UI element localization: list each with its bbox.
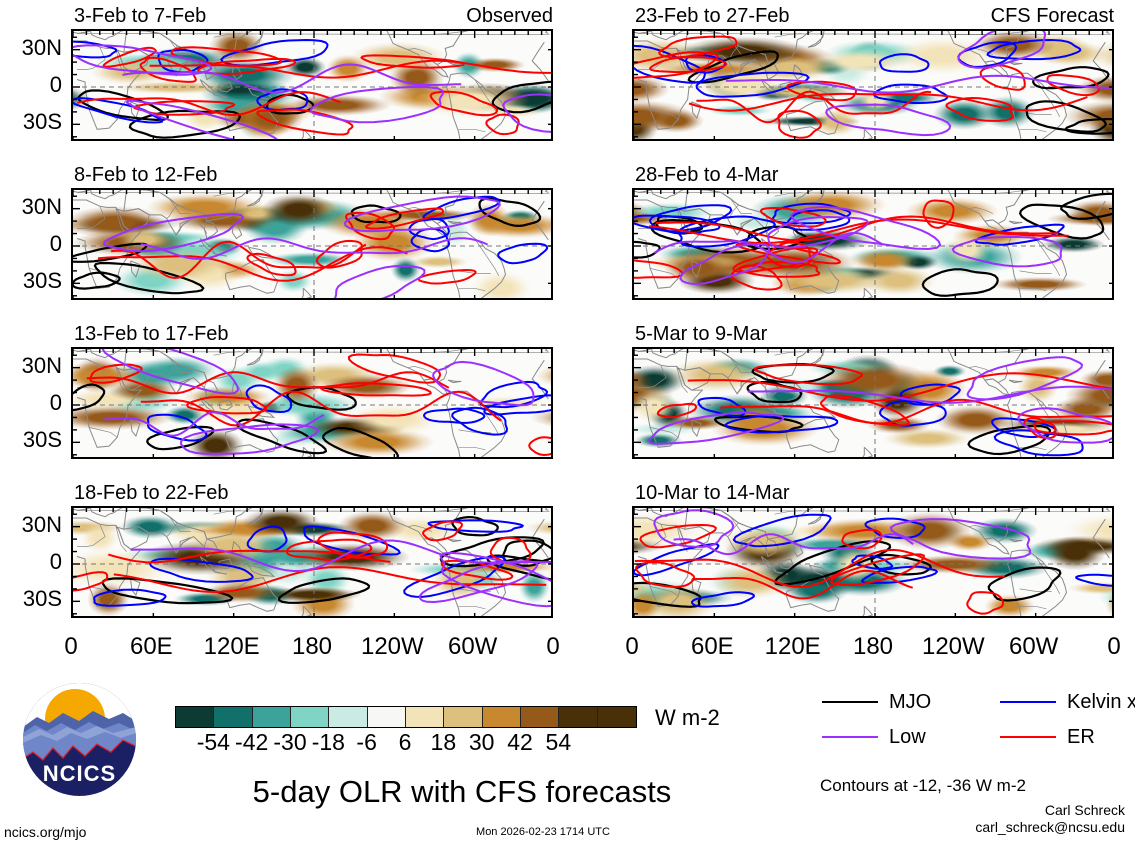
y-axis-label: 0 (0, 233, 62, 255)
y-axis-label: 0 (0, 74, 62, 96)
y-axis-label: 30S (0, 429, 62, 451)
colorbar-cell (444, 707, 482, 727)
x-axis-label: 120W (913, 635, 993, 659)
map-plot-area (71, 347, 553, 459)
contour-er (635, 525, 1005, 614)
x-axis-label: 0 (592, 635, 672, 659)
author-name: Carl Schreck (900, 802, 1125, 819)
site-url[interactable]: ncics.org/mjo (4, 825, 86, 839)
panel-title: 3-Feb to 7-Feb (74, 6, 206, 26)
y-axis-label: 30S (0, 588, 62, 610)
colorbar-cell (176, 707, 214, 727)
map-plot-area (71, 506, 553, 618)
legend-entry-low: Low (822, 727, 926, 747)
legend-line-swatch (1000, 701, 1056, 703)
legend-line-swatch (822, 701, 878, 703)
author-credit: Carl Schreckcarl_schreck@ncsu.edu (900, 802, 1125, 836)
panel-title: 13-Feb to 17-Feb (74, 324, 229, 344)
y-axis-label: 30S (0, 270, 62, 292)
colorbar-cell (521, 707, 559, 727)
panel-title: 10-Mar to 14-Mar (635, 483, 790, 503)
colorbar-cell (329, 707, 367, 727)
colorbar-cell (253, 707, 291, 727)
legend-line-swatch (1000, 736, 1056, 738)
contour-mjo (634, 541, 1060, 607)
y-axis-label: 0 (0, 392, 62, 414)
contour-low (654, 510, 1030, 558)
x-axis-label: 120E (753, 635, 833, 659)
x-axis-label: 120W (352, 635, 432, 659)
legend-label: ER (1067, 727, 1095, 747)
y-axis-label: 30N (0, 196, 62, 218)
map-plot-area (632, 506, 1114, 618)
x-axis-label: 60E (111, 635, 191, 659)
panel-title: 8-Feb to 12-Feb (74, 165, 217, 185)
panel-title: 5-Mar to 9-Mar (635, 324, 767, 344)
y-axis-label: 30N (0, 514, 62, 536)
y-axis-label: 0 (0, 551, 62, 573)
map-plot-area (632, 347, 1114, 459)
contour-note: Contours at -12, -36 W m-2 (820, 777, 1026, 794)
ncics-logo-text: NCICS (23, 761, 136, 787)
legend-entry-mjo: MJO (822, 692, 931, 712)
legend-line-swatch (822, 736, 878, 738)
colorbar-unit-label: W m-2 (655, 707, 720, 729)
x-axis-label: 0 (31, 635, 111, 659)
column-tag: Observed (403, 6, 553, 26)
ncics-logo[interactable]: NCICS (23, 683, 136, 796)
panel-title: 28-Feb to 4-Mar (635, 165, 778, 185)
x-axis-label: 60E (672, 635, 752, 659)
colorbar-tick-label: 54 (530, 731, 586, 754)
colorbar-cell (598, 707, 636, 727)
x-axis-label: 60W (994, 635, 1074, 659)
contour-mjo (634, 194, 1114, 296)
colorbar-cell (368, 707, 406, 727)
x-axis-label: 0 (513, 635, 593, 659)
figure-main-title: 5-day OLR with CFS forecasts (192, 776, 732, 807)
contour-low (104, 197, 500, 301)
colorbar-cell (483, 707, 521, 727)
y-axis-label: 30N (0, 37, 62, 59)
colorbar-cell (291, 707, 329, 727)
map-plot-area (71, 188, 553, 300)
timestamp: Mon 2026-02-23 1714 UTC (443, 827, 643, 838)
x-axis-label: 0 (1074, 635, 1135, 659)
y-axis-label: 30N (0, 355, 62, 377)
map-plot-area (632, 29, 1114, 141)
legend-label: Low (889, 727, 926, 747)
map-plot-area (632, 188, 1114, 300)
y-axis-label: 30S (0, 111, 62, 133)
column-tag: CFS Forecast (964, 6, 1114, 26)
x-axis-label: 60W (433, 635, 513, 659)
panel-title: 23-Feb to 27-Feb (635, 6, 790, 26)
author-email[interactable]: carl_schreck@ncsu.edu (900, 819, 1125, 836)
legend-entry-kelvin-x2: Kelvin x2 (1000, 692, 1135, 712)
legend-label: MJO (889, 692, 931, 712)
colorbar-cell (406, 707, 444, 727)
x-axis-label: 180 (272, 635, 352, 659)
panel-title: 18-Feb to 22-Feb (74, 483, 229, 503)
legend-label: Kelvin x2 (1067, 692, 1135, 712)
x-axis-label: 180 (833, 635, 913, 659)
legend-entry-er: ER (1000, 727, 1095, 747)
x-axis-label: 120E (192, 635, 272, 659)
colorbar (175, 706, 637, 728)
map-plot-area (71, 29, 553, 141)
colorbar-cell (559, 707, 597, 727)
colorbar-cell (214, 707, 252, 727)
